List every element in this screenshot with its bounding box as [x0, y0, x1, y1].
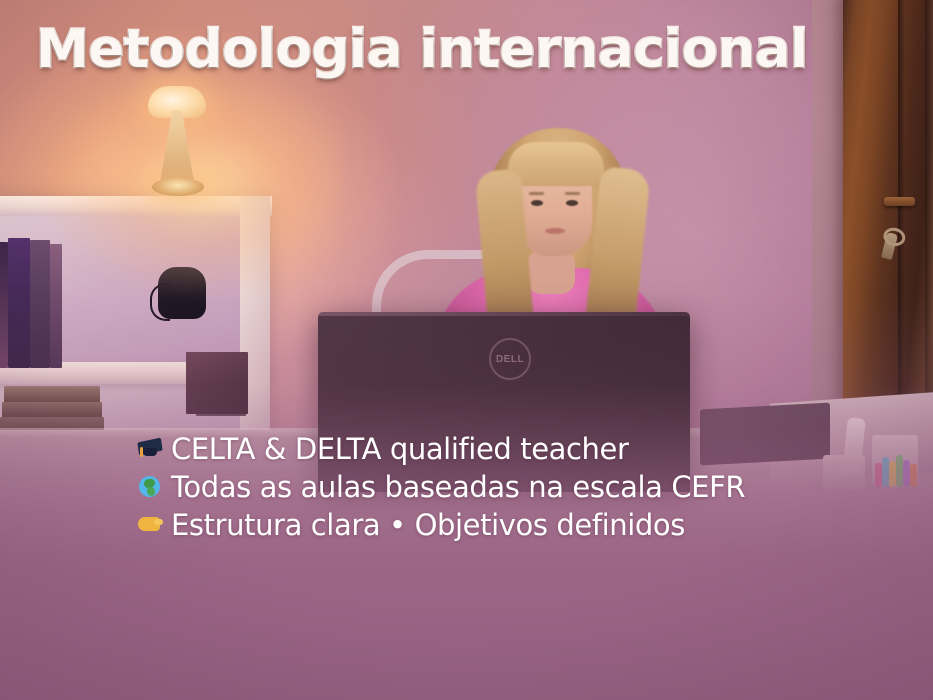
globe-icon — [137, 474, 171, 498]
pointing-finger-icon — [137, 512, 171, 536]
photo-vignette — [0, 0, 933, 700]
list-item: CELTA & DELTA qualified teacher — [137, 430, 837, 467]
list-item-label: Estrutura clara • Objetivos definidos — [171, 508, 685, 542]
bullet-list: CELTA & DELTA qualified teacher Todas as… — [137, 430, 837, 544]
slide-canvas: DELL Metodologia internacional CELTA & D… — [0, 0, 933, 700]
list-item-label: Todas as aulas baseadas na escala CEFR — [171, 470, 745, 504]
background-photo: DELL — [0, 0, 933, 700]
list-item: Todas as aulas baseadas na escala CEFR — [137, 468, 837, 505]
list-item-label: CELTA & DELTA qualified teacher — [171, 432, 629, 466]
list-item: Estrutura clara • Objetivos definidos — [137, 506, 837, 543]
graduation-cap-icon — [137, 436, 171, 460]
page-title: Metodologia internacional — [36, 22, 808, 78]
